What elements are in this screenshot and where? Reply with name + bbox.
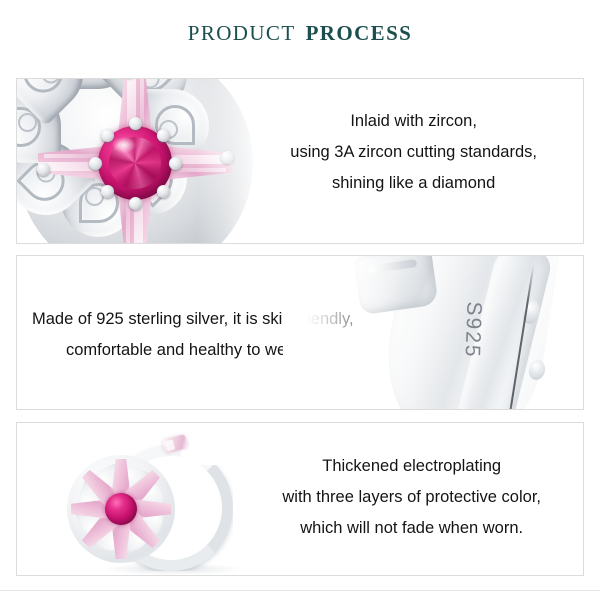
prong — [89, 157, 102, 170]
prong — [129, 197, 142, 210]
stone-highlight — [112, 137, 136, 153]
page-title: PRODUCTPROCESS — [0, 21, 600, 46]
feature-panel-sterling-silver: S925 Made of 925 sterling silver, it is … — [16, 255, 584, 410]
prong — [101, 129, 114, 142]
caption-line: using 3A zircon cutting standards, — [290, 137, 537, 168]
caption-line: Thickened electroplating — [282, 451, 541, 482]
prong-outer — [221, 151, 234, 164]
panel-1-caption: Inlaid with zircon, using 3A zircon cutt… — [290, 106, 537, 199]
product-photo-band-stamp: S925 — [283, 256, 583, 409]
macro-stage — [17, 79, 267, 243]
prong — [157, 185, 170, 198]
caption-line: shining like a diamond — [290, 168, 537, 199]
panel-3-caption: Thickened electroplating with three laye… — [282, 451, 541, 544]
ring-adjustable-tip-stone — [162, 434, 189, 454]
prong — [157, 129, 170, 142]
s925-stamp-text: S925 — [459, 301, 485, 359]
feature-panel-zircon: Inlaid with zircon, using 3A zircon cutt… — [16, 78, 584, 244]
page-title-word-process: PROCESS — [306, 21, 413, 45]
center-fuchsia-stone — [105, 493, 137, 525]
prong — [129, 117, 142, 130]
page-title-word-product: PRODUCT — [188, 21, 296, 45]
prong — [101, 185, 114, 198]
snowflake-flower-head — [63, 451, 179, 567]
product-photo-full-ring — [37, 423, 287, 575]
prong-outer — [37, 163, 50, 176]
prong — [169, 157, 182, 170]
product-photo-snowflake-macro — [17, 79, 267, 243]
ring-stage — [63, 429, 263, 575]
caption-line: which will not fade when worn. — [282, 513, 541, 544]
caption-line: Inlaid with zircon, — [290, 106, 537, 137]
feature-panel-electroplating: Thickened electroplating with three laye… — [16, 422, 584, 576]
caption-line: with three layers of protective color, — [282, 482, 541, 513]
bottom-divider — [0, 590, 600, 591]
